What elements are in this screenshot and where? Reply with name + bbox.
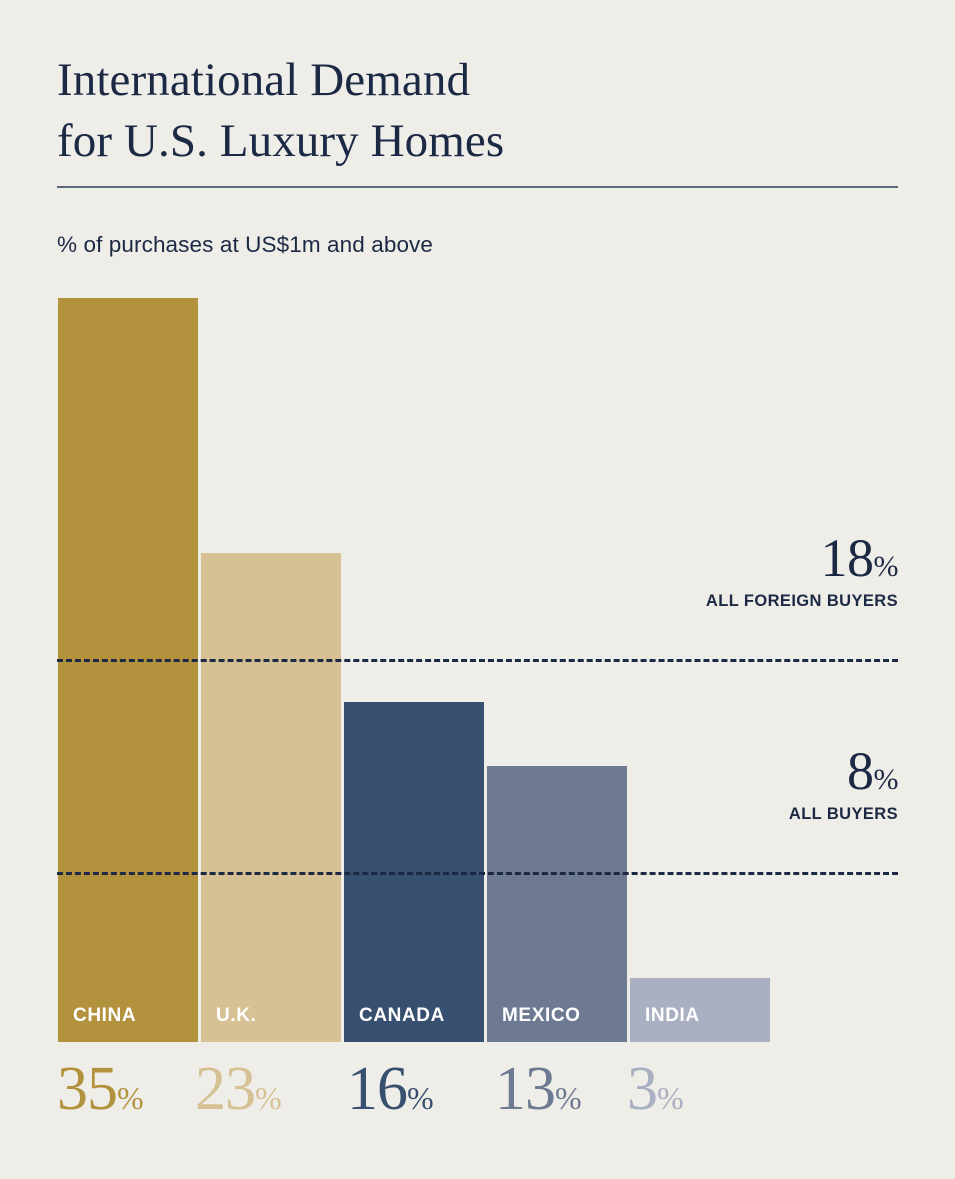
- reference-line-18: [57, 659, 898, 662]
- value-label-u-k: 23%: [195, 1058, 281, 1120]
- percent-sign: %: [255, 1080, 281, 1116]
- value-label-canada: 16%: [347, 1058, 433, 1120]
- reference-annotation-18: 18%ALL FOREIGN BUYERS: [478, 531, 898, 611]
- reference-value: 18%: [478, 531, 898, 585]
- bar-label: INDIA: [630, 1005, 770, 1027]
- percent-sign: %: [555, 1080, 581, 1116]
- bar-label: U.K.: [201, 1005, 341, 1027]
- value-labels-row: 35%23%16%13%3%: [57, 1058, 817, 1148]
- percent-sign: %: [657, 1080, 683, 1116]
- bar-chart: CHINAU.K.CANADAMEXICOINDIA18%ALL FOREIGN…: [0, 0, 955, 1179]
- reference-label: ALL BUYERS: [478, 805, 898, 824]
- reference-label: ALL FOREIGN BUYERS: [478, 592, 898, 611]
- percent-sign: %: [874, 550, 899, 583]
- reference-annotation-8: 8%ALL BUYERS: [478, 744, 898, 824]
- infographic-page: International Demand for U.S. Luxury Hom…: [0, 0, 955, 1179]
- percent-sign: %: [407, 1080, 433, 1116]
- percent-sign: %: [117, 1080, 143, 1116]
- value-label-china: 35%: [57, 1058, 143, 1120]
- bar-u-k: U.K.: [201, 553, 341, 1042]
- value-label-mexico: 13%: [495, 1058, 581, 1120]
- percent-sign: %: [874, 763, 899, 796]
- bar-china: CHINA: [58, 298, 198, 1042]
- bar-label: CANADA: [344, 1005, 484, 1027]
- bar-label: CHINA: [58, 1005, 198, 1027]
- bar-label: MEXICO: [487, 1005, 627, 1027]
- value-label-india: 3%: [627, 1058, 683, 1120]
- reference-value: 8%: [478, 744, 898, 798]
- reference-line-8: [57, 872, 898, 875]
- bar-india: INDIA: [630, 978, 770, 1042]
